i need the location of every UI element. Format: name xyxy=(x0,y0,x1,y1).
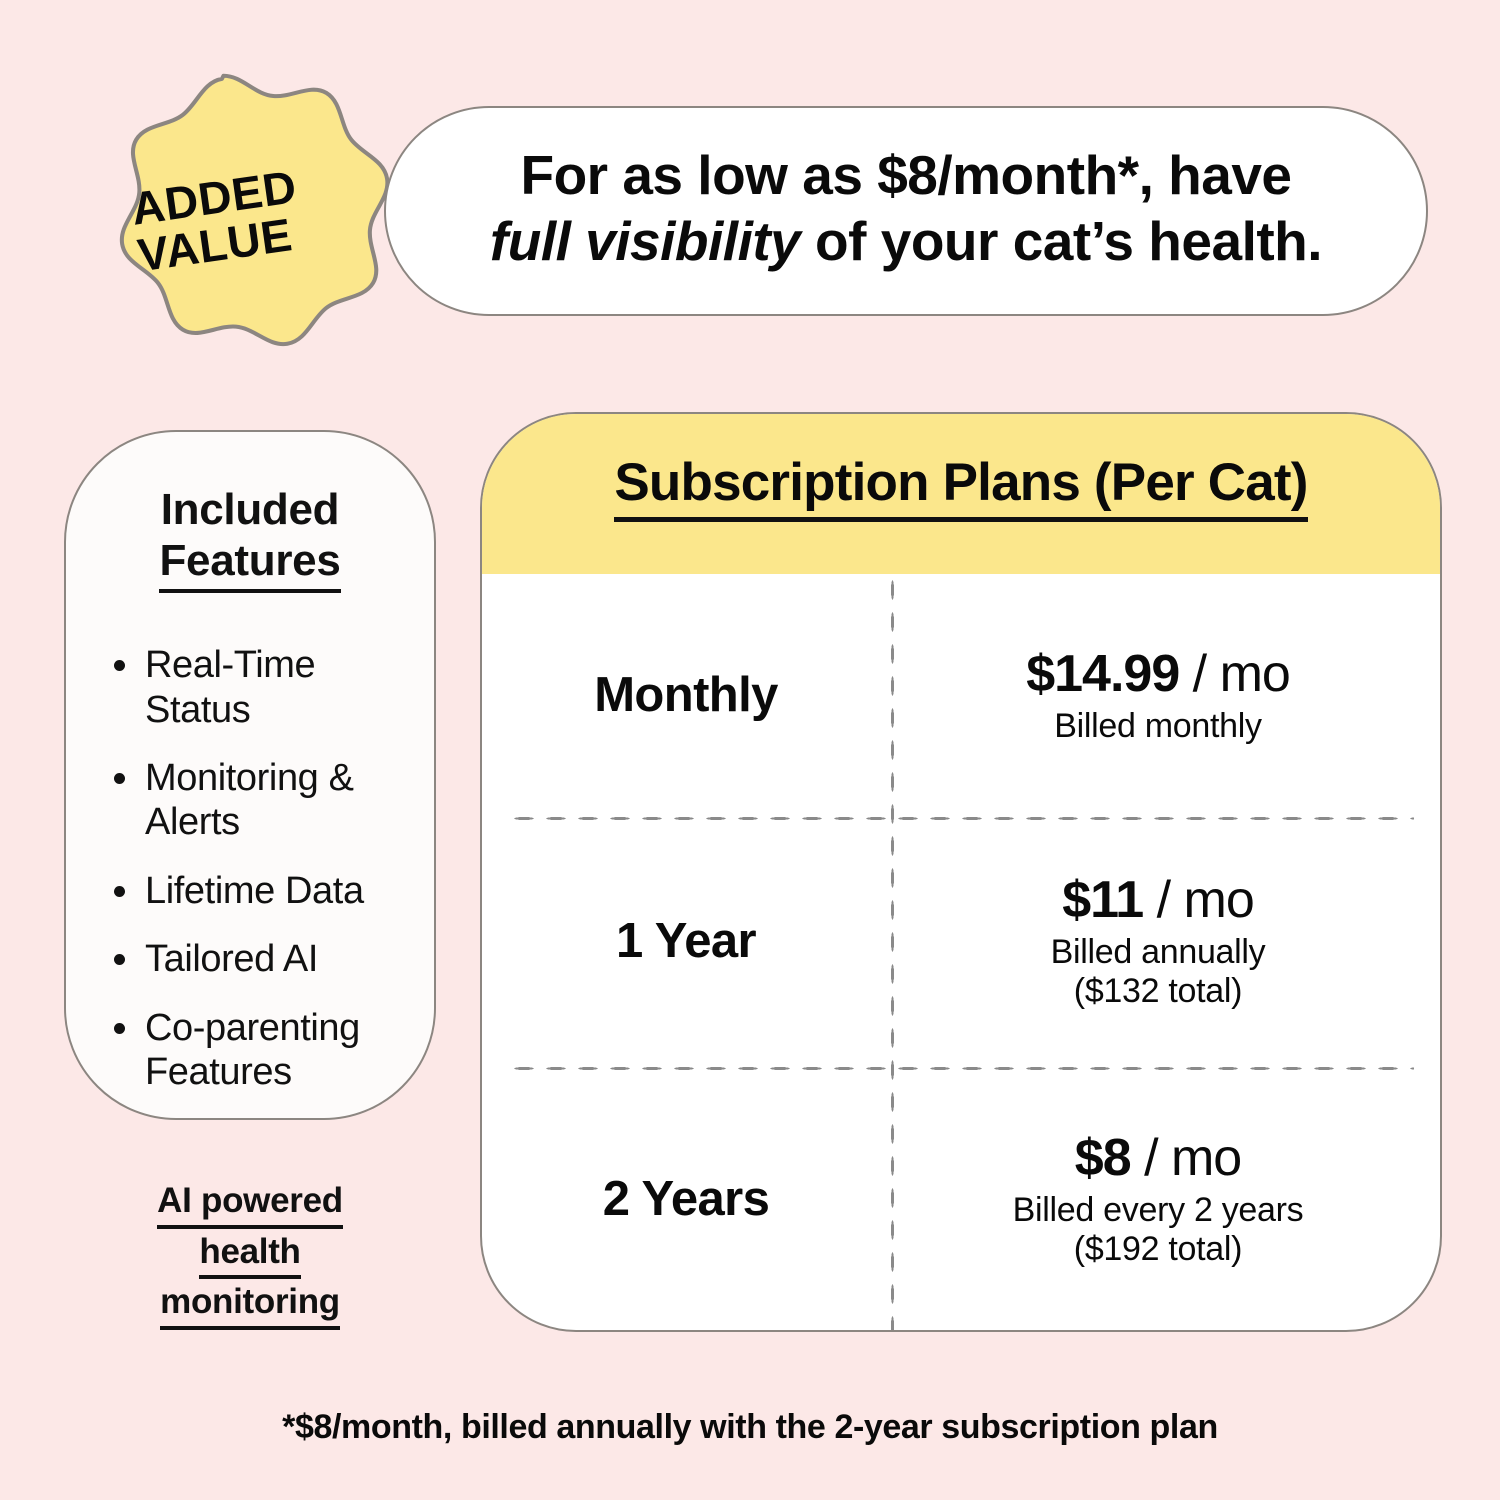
bullet-icon xyxy=(114,773,125,784)
added-value-badge: ADDED VALUE xyxy=(74,60,392,378)
ai-caption-line-3: monitoring xyxy=(160,1279,340,1330)
ai-caption-line-1: AI powered xyxy=(157,1178,343,1229)
bullet-icon xyxy=(114,954,125,965)
plan-price-cell: $11 / mo Billed annually ($132 total) xyxy=(890,871,1440,1011)
plan-price: $11 / mo xyxy=(890,871,1426,929)
plan-note-line-2: ($132 total) xyxy=(1074,972,1242,1010)
list-item: Tailored AI xyxy=(114,937,408,981)
headline-part-1: For as low as $8/month*, have xyxy=(520,144,1291,206)
plan-note-line-1: Billed every 2 years xyxy=(1013,1191,1304,1229)
plan-term: 2 Years xyxy=(482,1171,890,1227)
list-item: Real-Time Status xyxy=(114,643,408,732)
plan-note: Billed annually ($132 total) xyxy=(890,933,1426,1011)
bullet-icon xyxy=(114,660,125,671)
plan-price: $8 / mo xyxy=(890,1129,1426,1187)
ai-powered-caption: AI powered health monitoring xyxy=(64,1178,436,1330)
features-title-line-1: Included xyxy=(92,484,408,535)
headline-text: For as low as $8/month*, have full visib… xyxy=(490,142,1322,274)
list-item: Monitoring & Alerts xyxy=(114,756,408,845)
plan-price-amount: $14.99 xyxy=(1026,645,1179,703)
subscription-plans-card: Subscription Plans (Per Cat) Monthly $14… xyxy=(480,412,1442,1332)
plan-price-period: / mo xyxy=(1179,645,1290,703)
plan-term: 1 Year xyxy=(482,913,890,969)
plans-title: Subscription Plans (Per Cat) xyxy=(614,452,1307,522)
bullet-icon xyxy=(114,1023,125,1034)
feature-label: Monitoring & Alerts xyxy=(145,756,408,845)
plans-table: Monthly $14.99 / mo Billed monthly 1 Yea… xyxy=(482,574,1440,1332)
included-features-card: Included Features Real-Time Status Monit… xyxy=(64,430,436,1120)
bullet-icon xyxy=(114,886,125,897)
plan-price-cell: $8 / mo Billed every 2 years ($192 total… xyxy=(890,1129,1440,1269)
table-row[interactable]: 1 Year $11 / mo Billed annually ($132 to… xyxy=(482,816,1440,1066)
headline-banner: For as low as $8/month*, have full visib… xyxy=(384,106,1428,316)
plan-term: Monthly xyxy=(482,667,890,723)
plan-price-period: / mo xyxy=(1143,871,1254,929)
headline-emphasis: full visibility xyxy=(490,210,800,272)
plan-note: Billed monthly xyxy=(890,707,1426,746)
feature-label: Lifetime Data xyxy=(145,869,408,913)
plan-price-amount: $8 xyxy=(1075,1129,1131,1187)
list-item: Co-parenting Features xyxy=(114,1006,408,1095)
table-row[interactable]: 2 Years $8 / mo Billed every 2 years ($1… xyxy=(482,1066,1440,1332)
plan-price-period: / mo xyxy=(1131,1129,1242,1187)
plans-header: Subscription Plans (Per Cat) xyxy=(482,414,1440,574)
plan-price-amount: $11 xyxy=(1062,871,1143,929)
features-title: Included Features xyxy=(92,484,408,593)
plan-price-cell: $14.99 / mo Billed monthly xyxy=(890,645,1440,746)
plan-note: Billed every 2 years ($192 total) xyxy=(890,1191,1426,1269)
ai-caption-line-2: health xyxy=(199,1229,300,1280)
plan-note-line-2: ($192 total) xyxy=(1074,1230,1242,1268)
plan-price: $14.99 / mo xyxy=(890,645,1426,703)
starburst-icon xyxy=(74,60,392,378)
plan-note-line-1: Billed annually xyxy=(1051,933,1266,971)
headline-part-2: of your cat’s health. xyxy=(800,210,1322,272)
feature-label: Tailored AI xyxy=(145,937,408,981)
plan-note-line-1: Billed monthly xyxy=(1054,707,1261,745)
feature-label: Real-Time Status xyxy=(145,643,408,732)
features-title-line-2: Features xyxy=(159,535,340,593)
list-item: Lifetime Data xyxy=(114,869,408,913)
table-row[interactable]: Monthly $14.99 / mo Billed monthly xyxy=(482,574,1440,816)
feature-label: Co-parenting Features xyxy=(145,1006,408,1095)
footnote: *$8/month, billed annually with the 2-ye… xyxy=(0,1408,1500,1447)
infographic-root: ADDED VALUE For as low as $8/month*, hav… xyxy=(0,0,1500,1500)
features-list: Real-Time Status Monitoring & Alerts Lif… xyxy=(92,643,408,1095)
